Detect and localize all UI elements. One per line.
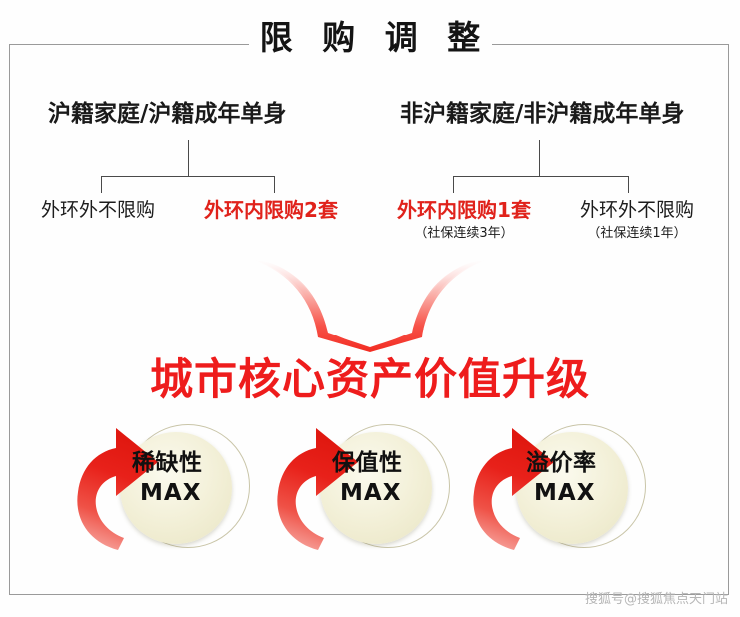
badge-label-max: MAX: [332, 478, 462, 508]
badge-label: 溢价率 MAX: [526, 448, 656, 508]
connector-stem-right: [539, 140, 540, 177]
badge-premium-rate: 溢价率 MAX: [468, 418, 668, 554]
connector-leg-right-two: [628, 176, 629, 193]
category-header-local: 沪籍家庭/沪籍成年单身: [48, 94, 286, 128]
connector-bar-right: [453, 176, 629, 177]
connector-leg-right-one: [453, 176, 454, 193]
connector-stem-left: [188, 140, 189, 177]
badge-label-max: MAX: [132, 478, 262, 508]
page-title: 限 购 调 整: [0, 18, 740, 58]
policy-leaf-main: 外环内限购2套: [186, 198, 356, 223]
policy-leaf-main: 外环内限购1套: [378, 198, 550, 223]
badge-label: 保值性 MAX: [332, 448, 462, 508]
badge-label-cn: 稀缺性: [132, 448, 262, 478]
policy-leaf-sub: （社保连续3年）: [378, 224, 550, 244]
policy-leaf-sub: （社保连续1年）: [556, 224, 718, 244]
policy-leaf-nonlocal-inner: 外环内限购1套 （社保连续3年）: [378, 198, 550, 244]
connector-bar-left: [101, 176, 275, 177]
badge-label: 稀缺性 MAX: [132, 448, 262, 508]
badge-value-retention: 保值性 MAX: [272, 418, 472, 554]
badge-scarcity: 稀缺性 MAX: [72, 418, 272, 554]
watermark-text: 搜狐号@搜狐焦点天门站: [585, 588, 728, 607]
policy-leaf-main: 外环外不限购: [22, 198, 174, 223]
badge-label-cn: 溢价率: [526, 448, 656, 478]
badge-row: 稀缺性 MAX: [0, 418, 740, 558]
poster-canvas: 限 购 调 整 沪籍家庭/沪籍成年单身 非沪籍家庭/非沪籍成年单身 外环外不限购…: [0, 0, 740, 617]
category-header-nonlocal: 非沪籍家庭/非沪籍成年单身: [400, 94, 684, 128]
badge-label-cn: 保值性: [332, 448, 462, 478]
funnel-down-arrow-icon: [248, 255, 492, 353]
policy-leaf-local-inner: 外环内限购2套: [186, 198, 356, 224]
policy-leaf-nonlocal-outer: 外环外不限购 （社保连续1年）: [556, 198, 718, 244]
headline-text: 城市核心资产价值升级: [0, 354, 740, 406]
badge-label-max: MAX: [526, 478, 656, 508]
policy-leaf-local-outer: 外环外不限购: [22, 198, 174, 224]
policy-leaf-main: 外环外不限购: [556, 198, 718, 223]
connector-leg-left-one: [101, 176, 102, 193]
connector-leg-left-two: [274, 176, 275, 193]
